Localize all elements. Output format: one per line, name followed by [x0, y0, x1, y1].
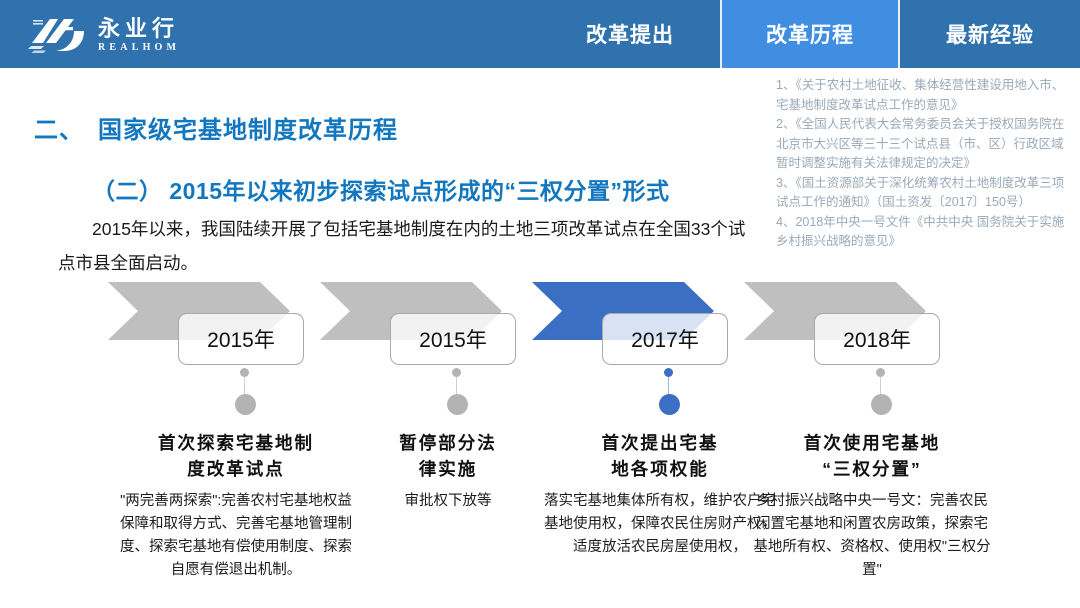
reference-notes: 1、《关于农村土地征收、集体经营性建设用地入市、宅基地制度改革试点工作的意见》 …	[776, 76, 1072, 252]
subsection-title: （二） 2015年以来初步探索试点形成的“三权分置”形式	[92, 172, 670, 206]
connector-small-dot-icon	[876, 368, 885, 377]
connector-large-dot-icon	[447, 394, 468, 415]
yh-swoosh-logo-icon	[28, 13, 92, 57]
step-title: 首次使用宅基地 “三权分置”	[744, 430, 1000, 482]
connector-small-dot-icon	[240, 368, 249, 377]
topbar-underline	[0, 68, 1080, 71]
year-label-box: 2018年	[814, 313, 940, 365]
step-description: 乡村振兴战略中央一号文：完善农民闲置宅基地和闲置农房政策，探索宅基地所有权、资格…	[752, 490, 992, 582]
connector-large-dot-icon	[871, 394, 892, 415]
reference-item: 1、《关于农村土地征收、集体经营性建设用地入市、宅基地制度改革试点工作的意见》	[776, 76, 1072, 115]
reference-item: 3、《国土资源部关于深化统筹农村土地制度改革三项试点工作的通知》（国土资发〔20…	[776, 174, 1072, 213]
nav-tab-list: 改革提出 改革历程 最新经验	[540, 0, 1080, 68]
year-label-box: 2015年	[178, 313, 304, 365]
reference-item: 4、2018年中央一号文件《中共中央 国务院关于实施乡村振兴战略的意见》	[776, 213, 1072, 252]
tab-reform-proposal[interactable]: 改革提出	[540, 0, 720, 68]
timeline-connector-highlighted	[662, 368, 674, 426]
tab-reform-history[interactable]: 改革历程	[720, 0, 900, 68]
reference-item: 2、《全国人民代表大会常务委员会关于授权国务院在北京市大兴区等三十三个试点县（市…	[776, 115, 1072, 174]
step-description: 审批权下放等	[328, 490, 568, 513]
reform-timeline: 2015年 首次探索宅基地制 度改革试点 "两完善两探索":完善农村宅基地权益保…	[0, 282, 1080, 608]
page-title: 二、国家级宅基地制度改革历程	[34, 110, 398, 145]
connector-small-dot-icon	[452, 368, 461, 377]
top-navigation-bar: 永业行 REALHOM 改革提出 改革历程 最新经验	[0, 0, 1080, 68]
step-description: "两完善两探索":完善农村宅基地权益保障和取得方式、完善宅基地管理制度、探索宅基…	[116, 490, 356, 582]
timeline-connector	[874, 368, 886, 426]
brand-logo[interactable]: 永业行 REALHOM	[28, 8, 248, 62]
connector-large-dot-icon	[659, 394, 680, 415]
step-description: 落实宅基地集体所有权，维护农户宅基地使用权，保障农民住房财产权，适度放活农民房屋…	[540, 490, 780, 559]
timeline-connector	[450, 368, 462, 426]
year-label-box: 2017年	[602, 313, 728, 365]
connector-small-dot-icon	[664, 368, 673, 377]
year-label-box: 2015年	[390, 313, 516, 365]
timeline-connector	[238, 368, 250, 426]
tab-latest-experience[interactable]: 最新经验	[900, 0, 1080, 68]
section-title-text: 国家级宅基地制度改革历程	[98, 117, 398, 144]
intro-paragraph: 2015年以来，我国陆续开展了包括宅基地制度在内的土地三项改革试点在全国33个试…	[58, 212, 758, 280]
section-number: 二、	[34, 117, 84, 144]
connector-large-dot-icon	[235, 394, 256, 415]
logo-chinese-name: 永业行	[98, 17, 180, 40]
logo-english-name: REALHOM	[98, 42, 180, 53]
